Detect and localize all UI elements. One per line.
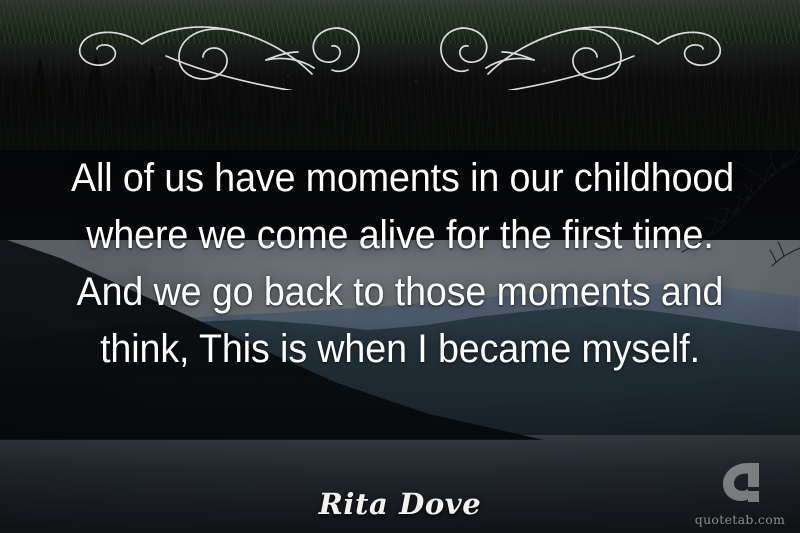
watermark[interactable]: quotetab.com [692, 459, 788, 527]
quote-line-2: where we come alive for the first time. [71, 207, 729, 264]
ornament-flourish-icon [70, 8, 730, 90]
watermark-text: quotetab.com [692, 512, 788, 527]
quote-line-4: think, This is when I became myself. [71, 321, 729, 378]
quotetab-logo-icon [714, 459, 766, 511]
quote-line-1: All of us have moments in our childhood [71, 150, 729, 207]
quote-image-canvas: All of us have moments in our childhood … [0, 0, 800, 533]
quote-text: All of us have moments in our childhood … [71, 150, 729, 378]
author-name: Rita Dove [0, 487, 800, 521]
quote-line-3: And we go back to those moments and [71, 264, 729, 321]
